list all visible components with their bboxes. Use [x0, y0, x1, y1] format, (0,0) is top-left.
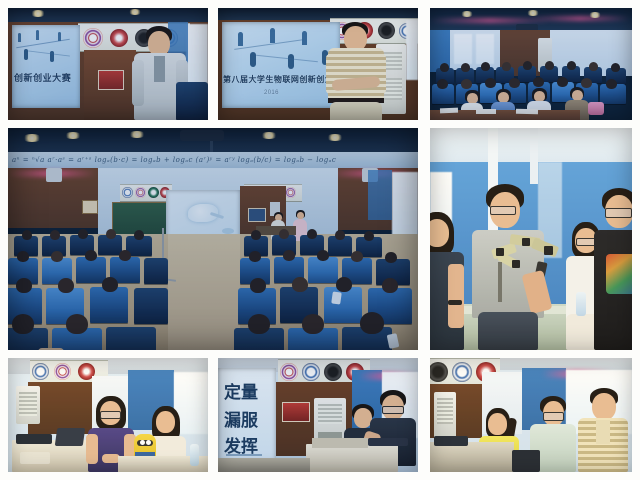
screen-char-2: 漏服: [224, 406, 258, 431]
ceiling-projector: [180, 130, 224, 141]
student-person: [578, 388, 630, 472]
photo-bottom-right[interactable]: [430, 358, 632, 472]
projection-screen: 第八届大学生物联网创新创业大赛 2016: [222, 22, 340, 108]
screen-subtitle-text: 2016: [264, 90, 279, 96]
student-person: [594, 188, 632, 350]
screen-title-text: 创新创业大赛: [14, 71, 71, 84]
screen-char-1: 定量: [224, 378, 258, 403]
wall-formula-band: aⁿ = ⁿ√a aʳ·aˢ = aʳ⁺ˢ logₐ(b·c) = logₐb …: [8, 152, 418, 168]
photo-collage: 创新创业大赛: [0, 0, 640, 480]
wall-formula-text: aⁿ = ⁿ√a aʳ·aˢ = aʳ⁺ˢ logₐ(b·c) = logₐb …: [8, 156, 336, 164]
projection-screen: 定量 漏服 发挥: [218, 368, 276, 462]
projection-screen: 创新创业大赛: [12, 25, 80, 108]
presenter-person: [326, 22, 388, 120]
photo-middle-right[interactable]: [430, 128, 632, 350]
glasses-icon: [490, 206, 516, 215]
photo-middle-wide[interactable]: aⁿ = ⁿ√a aʳ·aˢ = aʳ⁺ˢ logₐ(b·c) = logₐb …: [8, 128, 418, 350]
lectern: [306, 444, 398, 472]
student-person: [430, 212, 470, 350]
photo-bottom-center[interactable]: 定量 漏服 发挥: [218, 358, 418, 472]
projection-screen: [166, 190, 240, 240]
photo-top-center[interactable]: 第八届大学生物联网创新创业大赛 2016: [218, 8, 418, 120]
photo-top-left[interactable]: 创新创业大赛: [8, 8, 208, 120]
science-poster-band-left: [120, 184, 172, 202]
photo-top-right[interactable]: [430, 8, 632, 120]
student-with-wearable-device: [468, 184, 560, 350]
photo-bottom-left[interactable]: [8, 358, 208, 472]
